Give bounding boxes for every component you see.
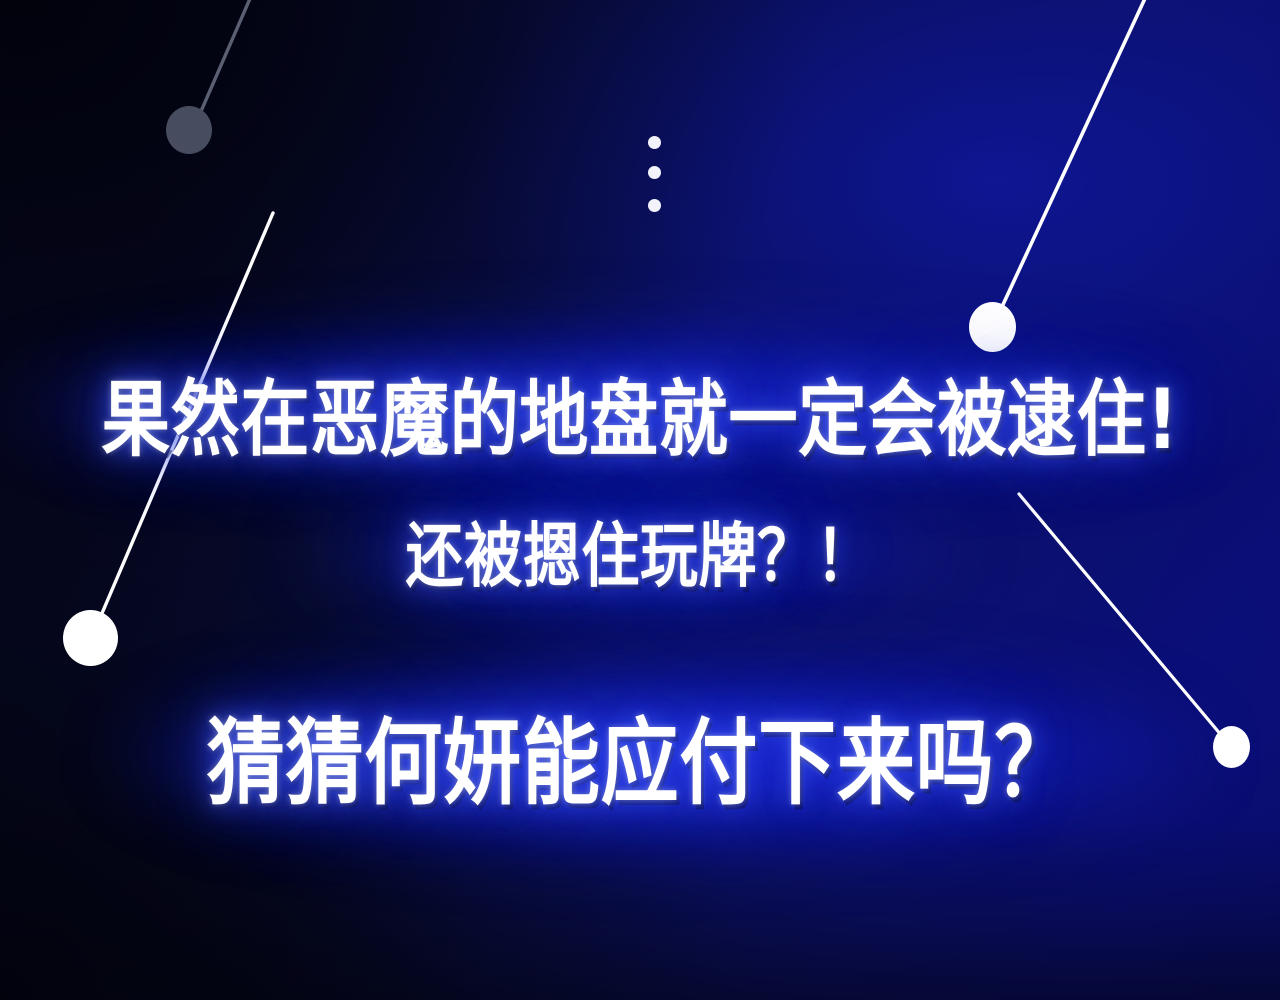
ellipsis-dot <box>648 166 661 179</box>
headline-line-3: 猜猜何妍能应付下来吗？ <box>207 689 1074 823</box>
teaser-panel: 果然在恶魔的地盘就一定会被逮住! 还被摁住玩牌？！ 猜猜何妍能应付下来吗？ <box>0 0 1280 1000</box>
white-node-bottom-right-icon <box>1213 726 1250 768</box>
headline-line-2: 还被摁住玩牌？！ <box>406 500 875 601</box>
white-node-center-right-icon <box>969 302 1016 352</box>
vertical-ellipsis-icon <box>648 136 662 214</box>
white-node-left-icon <box>63 610 118 666</box>
headline-line-1: 果然在恶魔的地盘就一定会被逮住! <box>101 352 1179 472</box>
ellipsis-dot <box>648 199 661 212</box>
gray-node-top-left-icon <box>166 106 212 154</box>
ellipsis-dot <box>648 136 661 149</box>
